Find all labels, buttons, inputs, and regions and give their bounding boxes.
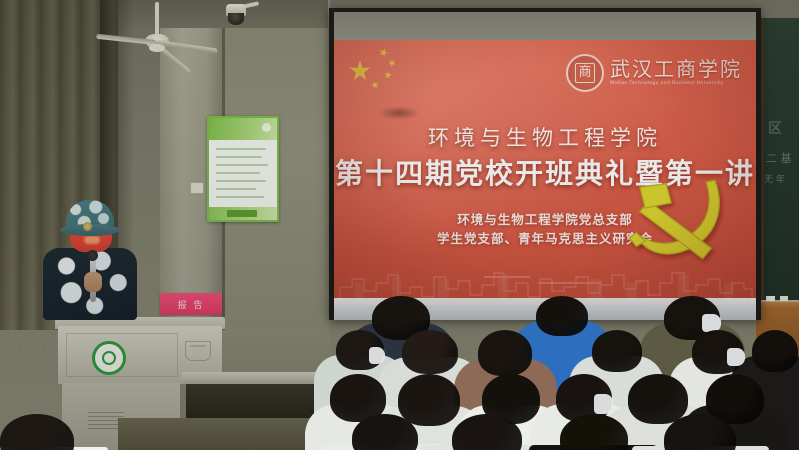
- university-logo: 商 武汉工商学院 Wuhan Technology and Business U…: [566, 54, 742, 92]
- flag-star-small-icon: [370, 80, 379, 89]
- poster-text-line: [216, 164, 268, 166]
- chalk-piece: [766, 296, 775, 301]
- chalk-mark: 区: [768, 118, 782, 138]
- presenter-hand: [84, 272, 102, 292]
- audience-member-head: [398, 374, 460, 426]
- chalk-mark: 无 年: [764, 172, 785, 185]
- lecture-hall-scene: 区 二 基 无 年 商 武汉工商学院 Wuhan Technology and …: [0, 0, 799, 450]
- poster-text-line: [216, 180, 266, 182]
- handheld-microphone-head: [87, 250, 98, 261]
- chalk-piece: [780, 296, 788, 301]
- floor: [118, 418, 330, 450]
- poster-text-line: [216, 172, 260, 174]
- poster-badge-icon: [262, 123, 271, 132]
- slide-title-line1: 环境与生物工程学院: [334, 122, 756, 152]
- audience-member-head: [478, 330, 532, 376]
- audience-member-face-mask: [594, 394, 613, 414]
- audience-member-head: [536, 296, 588, 336]
- poster-text-line: [216, 188, 256, 190]
- ceiling-fan-cap: [149, 44, 165, 52]
- dome-security-camera-lens: [228, 13, 244, 25]
- pink-name-sign: 报 告: [160, 293, 222, 315]
- wall-light-switch[interactable]: [190, 182, 204, 194]
- side-desk: [182, 372, 330, 384]
- audience-member-head: [628, 374, 688, 424]
- presenter-face-mask-highlight: [84, 236, 100, 244]
- hammer-and-sickle-emblem: [626, 168, 734, 264]
- audience-member-head: [592, 330, 642, 372]
- slide-shadow-smudge: [378, 106, 420, 120]
- university-seal-green: [92, 341, 126, 375]
- university-seal-char: 商: [568, 64, 602, 82]
- audience-member-face-mask: [727, 348, 745, 366]
- poster-text-line: [216, 148, 266, 150]
- university-name-en: Wuhan Technology and Business University: [610, 82, 742, 87]
- poster-text-line: [216, 156, 262, 158]
- flag-star-small-icon: [378, 47, 390, 59]
- pink-name-sign-text: 报 告: [160, 293, 222, 315]
- presenter-hat-badge: [83, 222, 92, 231]
- ceiling-fan-rod: [155, 2, 159, 38]
- audience-member-face-mask: [369, 347, 385, 364]
- poster-footer-tag: [227, 210, 257, 217]
- audience-member-head: [752, 330, 798, 372]
- audience-member-head: [402, 330, 458, 374]
- poster-text-line: [216, 196, 264, 198]
- flag-star-small-icon: [386, 57, 397, 68]
- podium-cup-motif: [20, 340, 44, 357]
- flag-star-small-icon: [383, 70, 392, 79]
- flag-star-large-icon: [349, 60, 371, 82]
- university-name-cn: 武汉工商学院: [610, 59, 742, 79]
- ceiling-beam: [118, 0, 328, 28]
- green-wall-poster: [207, 116, 279, 222]
- podium-cup-motif: [185, 341, 211, 361]
- university-seal-icon: 商: [566, 54, 604, 92]
- projection-screen-top-band: [334, 12, 756, 40]
- chalk-mark: 二 基: [766, 150, 792, 166]
- chalkboard: [761, 18, 799, 318]
- university-name-block: 武汉工商学院 Wuhan Technology and Business Uni…: [610, 59, 742, 87]
- presentation-slide: 商 武汉工商学院 Wuhan Technology and Business U…: [334, 40, 756, 305]
